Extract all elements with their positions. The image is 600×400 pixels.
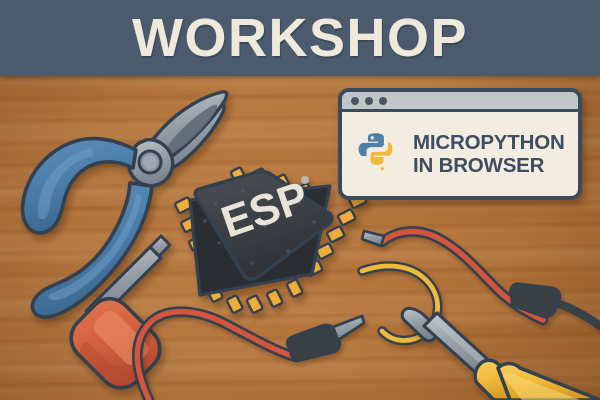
headline-line-1: MICROPYTHON [413, 132, 565, 155]
traffic-light-dot-1[interactable] [351, 97, 359, 105]
page-title: WORKSHOP [132, 11, 468, 65]
browser-headline: MICROPYTHON IN BROWSER [413, 132, 565, 178]
browser-window-mockup[interactable]: MICROPYTHON IN BROWSER [338, 88, 582, 200]
headline-line-2: IN BROWSER [413, 155, 565, 178]
poster-canvas: ESP [0, 0, 600, 400]
traffic-light-dot-2[interactable] [365, 97, 373, 105]
python-logo [352, 129, 404, 181]
browser-content: MICROPYTHON IN BROWSER [342, 112, 578, 197]
browser-titlebar [342, 92, 578, 112]
traffic-light-dot-3[interactable] [379, 97, 387, 105]
header-banner: WORKSHOP [0, 0, 600, 76]
